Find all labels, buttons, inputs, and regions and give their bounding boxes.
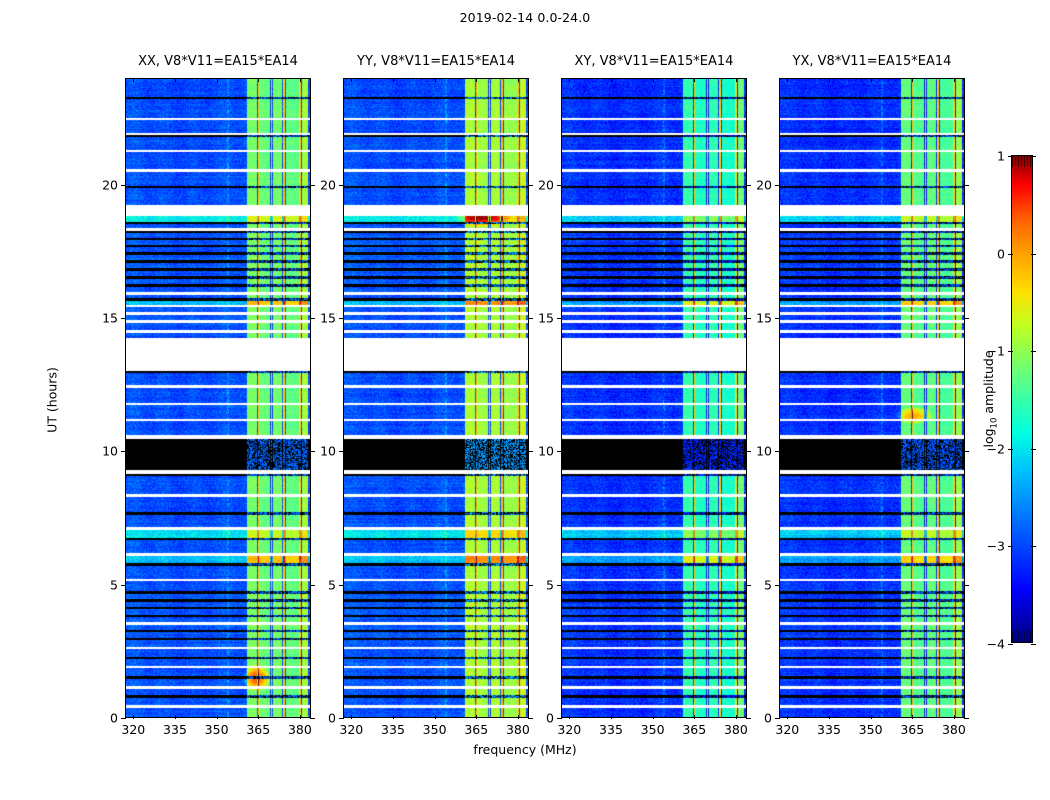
x-tick-label-3: 365 — [900, 722, 924, 737]
x-tick-mark-top — [393, 78, 394, 82]
y-tick-mark-right — [528, 185, 533, 186]
axes-yy[interactable] — [343, 78, 529, 718]
x-tick-mark-top — [217, 78, 218, 82]
y-tick-mark-right — [964, 585, 969, 586]
x-tick-label-0: 320 — [775, 722, 799, 737]
waterfall-canvas — [780, 79, 965, 718]
x-tick-mark-top — [653, 78, 654, 82]
panel-yy[interactable]: YY, V8*V11=EA15*EA14 3203353503653800510… — [343, 78, 529, 718]
x-tick-mark — [258, 715, 259, 719]
x-tick-label-2: 350 — [859, 722, 883, 737]
waterfall-image-xy — [562, 79, 746, 717]
x-tick-mark — [694, 715, 695, 719]
colorbar-tick-mark-right — [1031, 351, 1036, 352]
x-tick-mark — [518, 715, 519, 719]
x-tick-mark — [954, 715, 955, 719]
y-tick-mark-right — [528, 451, 533, 452]
colorbar-tick-mark-right — [1031, 546, 1036, 547]
x-tick-label-4: 380 — [942, 722, 966, 737]
y-tick-mark — [775, 585, 780, 586]
y-tick-mark-right — [310, 185, 315, 186]
y-tick-label-0: 0 — [110, 711, 118, 726]
y-tick-mark — [121, 585, 126, 586]
colorbar[interactable]: 10−1−2−3−4 — [1011, 155, 1033, 643]
x-tick-mark — [611, 715, 612, 719]
panel-xx[interactable]: XX, V8*V11=EA15*EA14 3203353503653800510… — [125, 78, 311, 718]
panel-title-xx: XX, V8*V11=EA15*EA14 — [138, 54, 298, 69]
x-tick-mark — [653, 715, 654, 719]
x-tick-mark — [435, 715, 436, 719]
y-tick-mark — [775, 318, 780, 319]
colorbar-tick-mark — [1008, 351, 1013, 352]
y-tick-label-4: 20 — [538, 177, 554, 192]
y-tick-mark-right — [528, 318, 533, 319]
x-tick-label-2: 350 — [423, 722, 447, 737]
x-tick-label-0: 320 — [121, 722, 145, 737]
x-tick-label-1: 335 — [817, 722, 841, 737]
x-tick-mark-top — [871, 78, 872, 82]
y-tick-mark-right — [310, 585, 315, 586]
y-tick-label-1: 5 — [328, 577, 336, 592]
x-tick-label-3: 365 — [464, 722, 488, 737]
y-tick-label-0: 0 — [546, 711, 554, 726]
x-tick-mark-top — [476, 78, 477, 82]
x-tick-mark-top — [787, 78, 788, 82]
y-tick-mark — [775, 718, 780, 719]
x-axis-label: frequency (MHz) — [473, 742, 576, 757]
y-tick-mark — [339, 585, 344, 586]
y-tick-label-0: 0 — [764, 711, 772, 726]
x-tick-mark — [175, 715, 176, 719]
panel-title-xy: XY, V8*V11=EA15*EA14 — [575, 54, 734, 69]
y-tick-mark-right — [310, 451, 315, 452]
y-tick-mark — [557, 318, 562, 319]
y-tick-label-2: 10 — [102, 444, 118, 459]
y-tick-mark-right — [528, 718, 533, 719]
y-tick-label-1: 5 — [110, 577, 118, 592]
panel-title-yy: YY, V8*V11=EA15*EA14 — [357, 54, 515, 69]
x-tick-mark-top — [258, 78, 259, 82]
y-tick-mark — [775, 451, 780, 452]
x-tick-label-3: 365 — [682, 722, 706, 737]
y-tick-mark-right — [746, 318, 751, 319]
y-tick-mark-right — [964, 718, 969, 719]
x-tick-mark-top — [518, 78, 519, 82]
y-tick-label-3: 15 — [320, 311, 336, 326]
y-tick-mark — [557, 185, 562, 186]
y-tick-mark — [121, 185, 126, 186]
y-tick-mark-right — [746, 585, 751, 586]
x-tick-mark-top — [694, 78, 695, 82]
panel-xy[interactable]: XY, V8*V11=EA15*EA14 3203353503653800510… — [561, 78, 747, 718]
colorbar-over-hatch — [1012, 156, 1032, 167]
x-tick-label-2: 350 — [641, 722, 665, 737]
x-tick-mark-top — [569, 78, 570, 82]
waterfall-canvas — [344, 79, 529, 718]
y-tick-label-4: 20 — [320, 177, 336, 192]
y-tick-mark — [339, 318, 344, 319]
colorbar-tick-mark — [1008, 546, 1013, 547]
x-tick-mark-top — [611, 78, 612, 82]
x-tick-label-1: 335 — [163, 722, 187, 737]
y-tick-label-1: 5 — [764, 577, 772, 592]
x-tick-mark — [569, 715, 570, 719]
y-tick-label-2: 10 — [756, 444, 772, 459]
y-tick-mark — [339, 185, 344, 186]
waterfall-image-yx — [780, 79, 964, 717]
y-tick-mark-right — [528, 585, 533, 586]
y-tick-label-4: 20 — [756, 177, 772, 192]
x-tick-label-4: 380 — [288, 722, 312, 737]
y-tick-mark-right — [746, 451, 751, 452]
colorbar-tick-mark — [1008, 254, 1013, 255]
x-tick-mark — [351, 715, 352, 719]
x-tick-mark-top — [175, 78, 176, 82]
y-tick-label-2: 10 — [538, 444, 554, 459]
y-tick-label-1: 5 — [546, 577, 554, 592]
y-tick-mark — [775, 185, 780, 186]
waterfall-canvas — [562, 79, 747, 718]
x-tick-label-0: 320 — [339, 722, 363, 737]
y-tick-mark-right — [746, 185, 751, 186]
y-tick-mark-right — [746, 718, 751, 719]
x-tick-mark — [787, 715, 788, 719]
axes-xy[interactable] — [561, 78, 747, 718]
axes-xx[interactable] — [125, 78, 311, 718]
x-tick-mark — [300, 715, 301, 719]
colorbar-tick-label-4: −3 — [987, 539, 1005, 554]
axes-yx[interactable] — [779, 78, 965, 718]
y-tick-mark — [557, 451, 562, 452]
y-tick-label-4: 20 — [102, 177, 118, 192]
colorbar-tick-label-5: −4 — [987, 637, 1005, 652]
x-tick-mark — [829, 715, 830, 719]
y-axis-label: UT (hours) — [45, 367, 60, 433]
figure-suptitle: 2019-02-14 0.0-24.0 — [0, 10, 1050, 25]
waterfall-image-xx — [126, 79, 310, 717]
y-tick-mark — [557, 718, 562, 719]
colorbar-label: log10 amplitude — [981, 350, 1000, 447]
colorbar-tick-mark — [1008, 644, 1013, 645]
y-tick-mark-right — [310, 318, 315, 319]
colorbar-tick-mark — [1008, 156, 1013, 157]
y-tick-mark — [121, 718, 126, 719]
x-tick-label-2: 350 — [205, 722, 229, 737]
y-tick-label-2: 10 — [320, 444, 336, 459]
x-tick-mark — [736, 715, 737, 719]
x-tick-mark — [393, 715, 394, 719]
panel-title-yx: YX, V8*V11=EA15*EA14 — [793, 54, 952, 69]
colorbar-tick-mark — [1008, 449, 1013, 450]
x-tick-label-3: 365 — [246, 722, 270, 737]
colorbar-label-tail: amplitude — [981, 350, 996, 417]
x-tick-mark — [871, 715, 872, 719]
y-tick-label-3: 15 — [102, 311, 118, 326]
y-tick-mark — [339, 451, 344, 452]
panel-yx[interactable]: YX, V8*V11=EA15*EA14 3203353503653800510… — [779, 78, 965, 718]
figure-canvas: 2019-02-14 0.0-24.0 XX, V8*V11=EA15*EA14… — [0, 0, 1050, 800]
y-tick-label-3: 15 — [538, 311, 554, 326]
y-tick-mark-right — [310, 718, 315, 719]
x-tick-label-4: 380 — [724, 722, 748, 737]
x-tick-mark-top — [736, 78, 737, 82]
colorbar-tick-label-0: 1 — [997, 149, 1005, 164]
waterfall-image-yy — [344, 79, 528, 717]
x-tick-mark-top — [351, 78, 352, 82]
y-tick-mark — [121, 318, 126, 319]
x-tick-mark — [912, 715, 913, 719]
x-tick-mark — [217, 715, 218, 719]
y-tick-mark-right — [964, 185, 969, 186]
x-tick-mark-top — [954, 78, 955, 82]
x-tick-mark — [133, 715, 134, 719]
y-tick-label-3: 15 — [756, 311, 772, 326]
x-tick-label-1: 335 — [381, 722, 405, 737]
waterfall-canvas — [126, 79, 311, 718]
x-tick-label-4: 380 — [506, 722, 530, 737]
colorbar-tick-label-1: 0 — [997, 246, 1005, 261]
colorbar-tick-mark-right — [1031, 156, 1036, 157]
y-tick-mark-right — [964, 451, 969, 452]
x-tick-mark-top — [912, 78, 913, 82]
colorbar-tick-mark-right — [1031, 254, 1036, 255]
x-tick-mark-top — [435, 78, 436, 82]
colorbar-under-hatch — [1012, 631, 1032, 642]
y-tick-mark — [339, 718, 344, 719]
colorbar-label-main: log — [981, 428, 996, 447]
colorbar-label-subscript: 10 — [989, 418, 999, 429]
colorbar-tick-mark-right — [1031, 644, 1036, 645]
x-tick-mark — [476, 715, 477, 719]
y-tick-mark-right — [964, 318, 969, 319]
y-tick-label-0: 0 — [328, 711, 336, 726]
colorbar-tick-mark-right — [1031, 449, 1036, 450]
x-tick-mark-top — [300, 78, 301, 82]
x-tick-mark-top — [829, 78, 830, 82]
x-tick-label-0: 320 — [557, 722, 581, 737]
y-tick-mark — [121, 451, 126, 452]
x-tick-label-1: 335 — [599, 722, 623, 737]
y-tick-mark — [557, 585, 562, 586]
x-tick-mark-top — [133, 78, 134, 82]
